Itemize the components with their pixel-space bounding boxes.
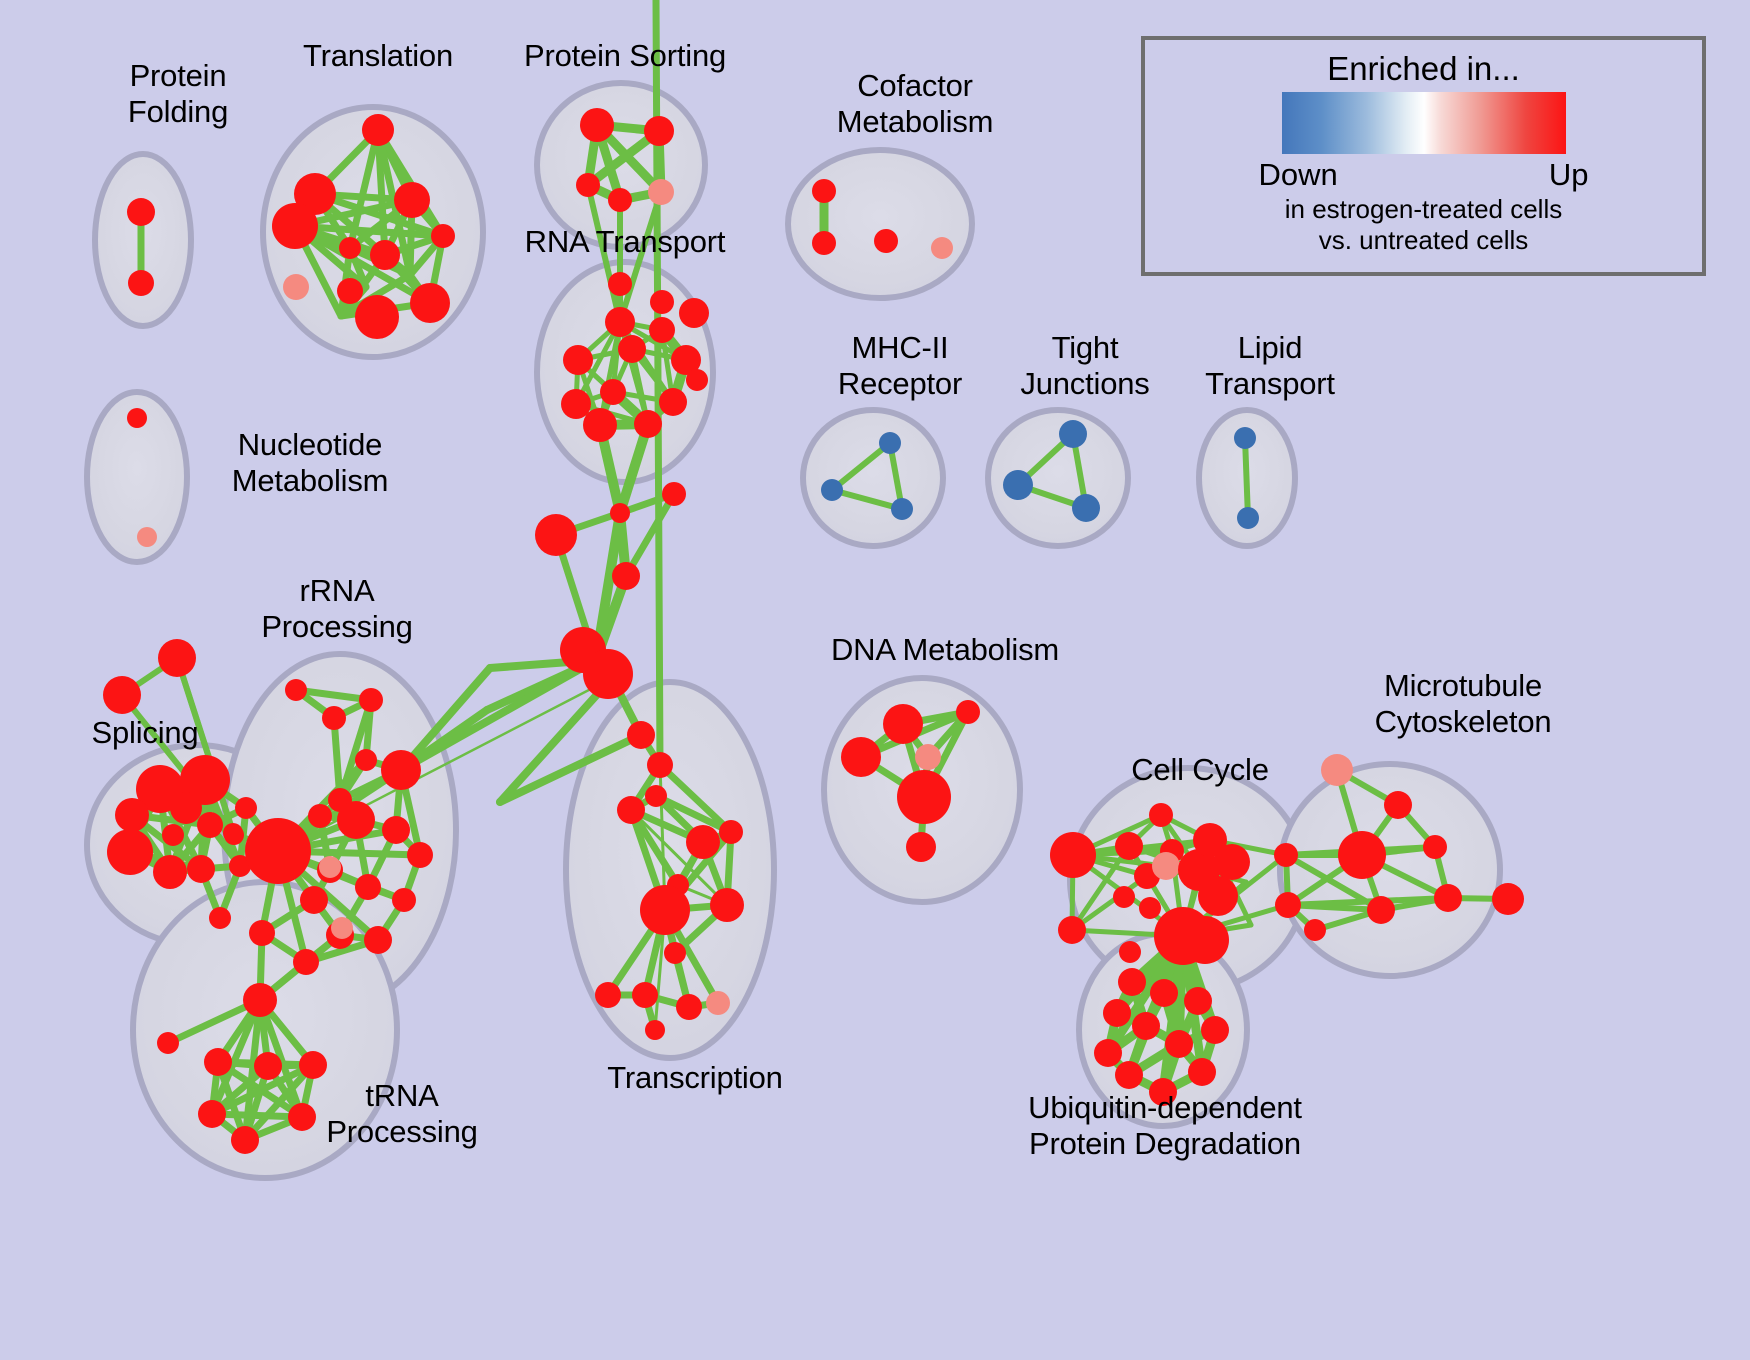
node-up[interactable] (583, 408, 617, 442)
node-up[interactable] (392, 888, 416, 912)
node-up[interactable] (1118, 968, 1146, 996)
node-up[interactable] (127, 408, 147, 428)
node-up[interactable] (618, 335, 646, 363)
node-up[interactable] (841, 737, 881, 777)
node-up[interactable] (1201, 1016, 1229, 1044)
node-up[interactable] (157, 1032, 179, 1054)
node-up[interactable] (300, 886, 328, 914)
cluster-label-ubiquitin: Ubiquitin-dependent Protein Degradation (975, 1090, 1355, 1162)
node-up[interactable] (686, 825, 720, 859)
node-up[interactable] (1103, 999, 1131, 1027)
node-up[interactable] (1115, 832, 1143, 860)
node-up-faint[interactable] (331, 917, 353, 939)
node-up[interactable] (197, 812, 223, 838)
node-up[interactable] (1304, 919, 1326, 941)
node-up[interactable] (1423, 835, 1447, 859)
node-up[interactable] (1274, 843, 1298, 867)
edge (656, 0, 660, 765)
node-up[interactable] (370, 240, 400, 270)
node-up[interactable] (198, 1100, 226, 1128)
node-up[interactable] (645, 785, 667, 807)
cluster-label-transcription: Transcription (560, 1060, 830, 1096)
node-up[interactable] (610, 503, 630, 523)
node-up[interactable] (187, 855, 215, 883)
cluster-label-nucleotide-metabolism: Nucleotide Metabolism (185, 427, 435, 499)
node-up[interactable] (1492, 883, 1524, 915)
node-up[interactable] (812, 231, 836, 255)
legend-endpoint-labels: Down Up (1259, 156, 1589, 194)
node-up[interactable] (583, 649, 633, 699)
node-up[interactable] (1113, 886, 1135, 908)
node-up[interactable] (710, 888, 744, 922)
cluster-label-dna-metabolism: DNA Metabolism (795, 632, 1095, 668)
node-up-faint[interactable] (648, 179, 674, 205)
node-up-faint[interactable] (706, 991, 730, 1015)
node-up[interactable] (580, 108, 614, 142)
node-up[interactable] (535, 514, 577, 556)
node-up[interactable] (1198, 876, 1238, 916)
cluster-label-translation: Translation (258, 38, 498, 74)
node-up[interactable] (1050, 832, 1096, 878)
node-up[interactable] (362, 114, 394, 146)
legend-high-label: Up (1549, 156, 1589, 194)
node-up-faint[interactable] (319, 856, 341, 878)
node-up[interactable] (1181, 916, 1229, 964)
node-up[interactable] (272, 203, 318, 249)
node-up[interactable] (170, 792, 202, 824)
node-up[interactable] (561, 389, 591, 419)
node-down[interactable] (1003, 470, 1033, 500)
node-up[interactable] (382, 816, 410, 844)
node-up[interactable] (1188, 1058, 1216, 1086)
node-up[interactable] (364, 926, 392, 954)
legend-subtitle-line2: vs. untreated cells (1319, 225, 1529, 256)
node-up[interactable] (162, 824, 184, 846)
node-up[interactable] (627, 721, 655, 749)
node-up[interactable] (407, 842, 433, 868)
node-up[interactable] (608, 272, 632, 296)
cluster-label-lipid-transport: Lipid Transport (1160, 330, 1380, 402)
node-up[interactable] (1275, 892, 1301, 918)
node-up[interactable] (355, 749, 377, 771)
node-up[interactable] (355, 295, 399, 339)
cluster-label-cell-cycle: Cell Cycle (1085, 752, 1315, 788)
node-up[interactable] (608, 188, 632, 212)
node-up[interactable] (1165, 1030, 1193, 1058)
edge (1245, 438, 1248, 518)
node-up[interactable] (299, 1051, 327, 1079)
node-up[interactable] (153, 855, 187, 889)
node-up[interactable] (576, 173, 600, 197)
node-up[interactable] (115, 798, 149, 832)
node-up[interactable] (394, 182, 430, 218)
node-up[interactable] (243, 983, 277, 1017)
cluster-label-protein-sorting: Protein Sorting (490, 38, 760, 74)
node-up[interactable] (224, 825, 244, 845)
node-up[interactable] (103, 676, 141, 714)
node-up-faint[interactable] (915, 744, 941, 770)
node-up[interactable] (1150, 979, 1178, 1007)
node-up[interactable] (650, 290, 674, 314)
hull-cofactor-metabolism (788, 150, 972, 298)
node-up[interactable] (1132, 1012, 1160, 1040)
node-up[interactable] (1384, 791, 1412, 819)
node-up[interactable] (337, 278, 363, 304)
node-up[interactable] (285, 679, 307, 701)
legend-title: Enriched in... (1327, 50, 1520, 88)
enrichment-map-figure: Protein Folding Translation Protein Sort… (0, 0, 1750, 1360)
node-down[interactable] (821, 479, 843, 501)
cluster-label-microtubule: Microtubule Cytoskeleton (1298, 668, 1628, 740)
node-up[interactable] (956, 700, 980, 724)
node-up[interactable] (662, 482, 686, 506)
node-up[interactable] (874, 229, 898, 253)
node-up[interactable] (632, 982, 658, 1008)
node-up[interactable] (664, 942, 686, 964)
node-up[interactable] (337, 801, 375, 839)
node-up[interactable] (431, 224, 455, 248)
node-up[interactable] (231, 1126, 259, 1154)
node-up[interactable] (128, 270, 154, 296)
node-down[interactable] (1059, 420, 1087, 448)
node-up[interactable] (676, 994, 702, 1020)
node-up[interactable] (1094, 1039, 1122, 1067)
node-up[interactable] (254, 1052, 282, 1080)
node-up[interactable] (640, 885, 690, 935)
node-up[interactable] (1184, 987, 1212, 1015)
node-up[interactable] (634, 410, 662, 438)
cluster-label-splicing: Splicing (55, 715, 235, 751)
node-up[interactable] (1434, 884, 1462, 912)
node-up[interactable] (686, 369, 708, 391)
node-up[interactable] (679, 298, 709, 328)
node-up[interactable] (410, 283, 450, 323)
node-up[interactable] (1214, 844, 1250, 880)
legend-color-gradient-bar (1282, 92, 1566, 154)
node-up[interactable] (381, 750, 421, 790)
node-up[interactable] (1058, 916, 1086, 944)
cluster-label-cofactor-metabolism: Cofactor Metabolism (790, 68, 1040, 140)
node-up[interactable] (659, 388, 687, 416)
cluster-label-rrna-processing: rRNA Processing (232, 573, 442, 645)
node-down[interactable] (1072, 494, 1100, 522)
cluster-label-rna-transport: RNA Transport (490, 224, 760, 260)
node-up[interactable] (719, 820, 743, 844)
node-up-faint[interactable] (1152, 852, 1180, 880)
node-up[interactable] (245, 818, 311, 884)
node-up[interactable] (107, 829, 153, 875)
cluster-label-trna-processing: tRNA Processing (292, 1078, 512, 1150)
node-down[interactable] (1234, 427, 1256, 449)
node-up[interactable] (359, 688, 383, 712)
node-up[interactable] (897, 770, 951, 824)
node-up[interactable] (605, 307, 635, 337)
node-down[interactable] (891, 498, 913, 520)
node-up[interactable] (1149, 803, 1173, 827)
node-up[interactable] (209, 907, 231, 929)
node-up[interactable] (249, 920, 275, 946)
node-up[interactable] (595, 982, 621, 1008)
cluster-label-protein-folding: Protein Folding (83, 58, 273, 130)
node-up-faint[interactable] (1321, 754, 1353, 786)
node-up[interactable] (612, 562, 640, 590)
node-up[interactable] (644, 116, 674, 146)
hull-mhc-ii-receptor (803, 410, 943, 546)
legend-box: Enriched in... Down Up in estrogen-treat… (1141, 36, 1706, 276)
node-up-faint[interactable] (931, 237, 953, 259)
node-up[interactable] (127, 198, 155, 226)
node-up[interactable] (1115, 1061, 1143, 1089)
node-up[interactable] (1139, 897, 1161, 919)
node-up[interactable] (647, 752, 673, 778)
node-up[interactable] (235, 797, 257, 819)
legend-low-label: Down (1259, 156, 1338, 194)
node-up-faint[interactable] (283, 274, 309, 300)
node-down[interactable] (879, 432, 901, 454)
node-up[interactable] (1119, 941, 1141, 963)
node-up[interactable] (204, 1048, 232, 1076)
node-up[interactable] (355, 874, 381, 900)
node-up-faint[interactable] (137, 527, 157, 547)
node-up[interactable] (293, 949, 319, 975)
node-up[interactable] (906, 832, 936, 862)
node-up[interactable] (322, 706, 346, 730)
node-up[interactable] (600, 379, 626, 405)
node-down[interactable] (1237, 507, 1259, 529)
node-up[interactable] (1367, 896, 1395, 924)
node-up[interactable] (1338, 831, 1386, 879)
node-up[interactable] (339, 237, 361, 259)
node-up[interactable] (645, 1020, 665, 1040)
node-up[interactable] (812, 179, 836, 203)
node-up[interactable] (649, 317, 675, 343)
node-up[interactable] (308, 804, 332, 828)
node-up[interactable] (883, 704, 923, 744)
node-up[interactable] (617, 796, 645, 824)
node-up[interactable] (158, 639, 196, 677)
node-up[interactable] (563, 345, 593, 375)
legend-subtitle-line1: in estrogen-treated cells (1285, 194, 1562, 225)
